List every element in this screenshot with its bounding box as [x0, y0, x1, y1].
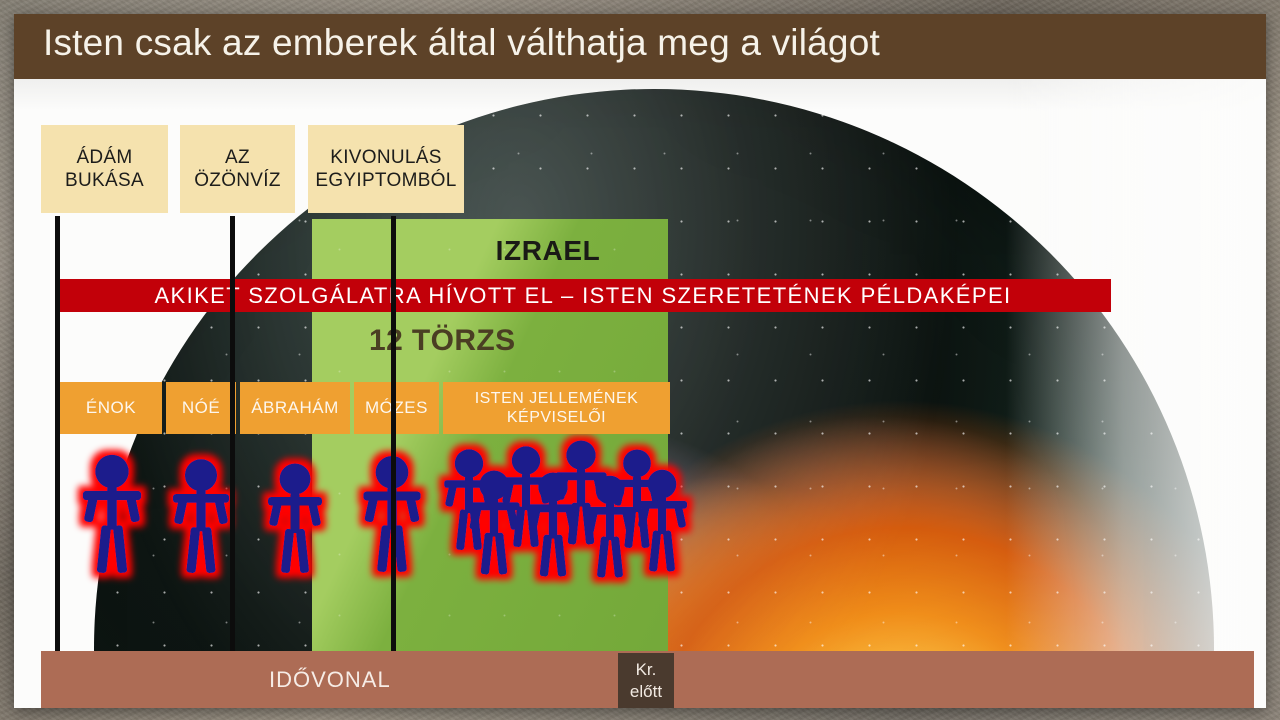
- era-marker-line1: Kr.: [636, 659, 657, 680]
- slide-canvas: ÁDÁM BUKÁSA AZ ÖZÖNVÍZ KIVONULÁS EGYIPTO…: [14, 79, 1266, 708]
- page-title: Isten csak az emberek által válthatja me…: [43, 22, 880, 64]
- person-label-representatives: ISTEN JELLEMÉNEK KÉPVISELŐI: [475, 389, 639, 427]
- red-callout-banner: AKIKET SZOLGÁLATRA HÍVOTT EL – ISTEN SZE…: [55, 279, 1111, 312]
- person-box-mozes[interactable]: MÓZES: [354, 382, 439, 434]
- person-box-noe[interactable]: NÓÉ: [166, 382, 236, 434]
- globe-right-fade: [1006, 79, 1266, 708]
- person-box-enok[interactable]: ÉNOK: [60, 382, 162, 434]
- person-box-abraham[interactable]: ÁBRAHÁM: [240, 382, 350, 434]
- event-label-exodus: KIVONULÁS EGYIPTOMBÓL: [315, 146, 456, 192]
- person-label-noe: NÓÉ: [182, 398, 220, 418]
- presentation-slide: Isten csak az emberek által válthatja me…: [14, 14, 1266, 708]
- event-box-flood[interactable]: AZ ÖZÖNVÍZ: [180, 125, 295, 213]
- era-marker-bc[interactable]: Kr. előtt: [618, 653, 674, 708]
- person-label-mozes: MÓZES: [365, 398, 428, 418]
- event-label-adam: ÁDÁM BUKÁSA: [65, 146, 144, 192]
- era-marker-line2: előtt: [630, 681, 662, 702]
- timeline-marker-line-3: [391, 216, 396, 708]
- event-label-flood: AZ ÖZÖNVÍZ: [186, 146, 289, 192]
- person-label-enok: ÉNOK: [86, 398, 136, 418]
- timeline-marker-line-1: [55, 216, 60, 708]
- event-label-adam-line2: BUKÁSA: [65, 170, 144, 191]
- event-label-exodus-line2: EGYIPTOMBÓL: [315, 170, 456, 191]
- person-label-reps-line1: ISTEN JELLEMÉNEK: [475, 390, 639, 407]
- red-banner-text: AKIKET SZOLGÁLATRA HÍVOTT EL – ISTEN SZE…: [154, 283, 1011, 309]
- person-box-representatives[interactable]: ISTEN JELLEMÉNEK KÉPVISELŐI: [443, 382, 670, 434]
- israel-label: IZRAEL: [428, 235, 668, 267]
- event-box-exodus[interactable]: KIVONULÁS EGYIPTOMBÓL: [308, 125, 464, 213]
- timeline-label: IDŐVONAL: [269, 667, 391, 693]
- event-label-exodus-line1: KIVONULÁS: [330, 147, 441, 168]
- person-label-reps-line2: KÉPVISELŐI: [507, 409, 606, 426]
- title-banner: Isten csak az emberek által válthatja me…: [14, 14, 1266, 79]
- event-label-adam-line1: ÁDÁM: [76, 147, 132, 168]
- slide-backdrop: Isten csak az emberek által válthatja me…: [0, 0, 1280, 720]
- event-box-adam-fall[interactable]: ÁDÁM BUKÁSA: [41, 125, 168, 213]
- person-label-abraham: ÁBRAHÁM: [251, 398, 339, 418]
- timeline-marker-line-2: [230, 216, 235, 708]
